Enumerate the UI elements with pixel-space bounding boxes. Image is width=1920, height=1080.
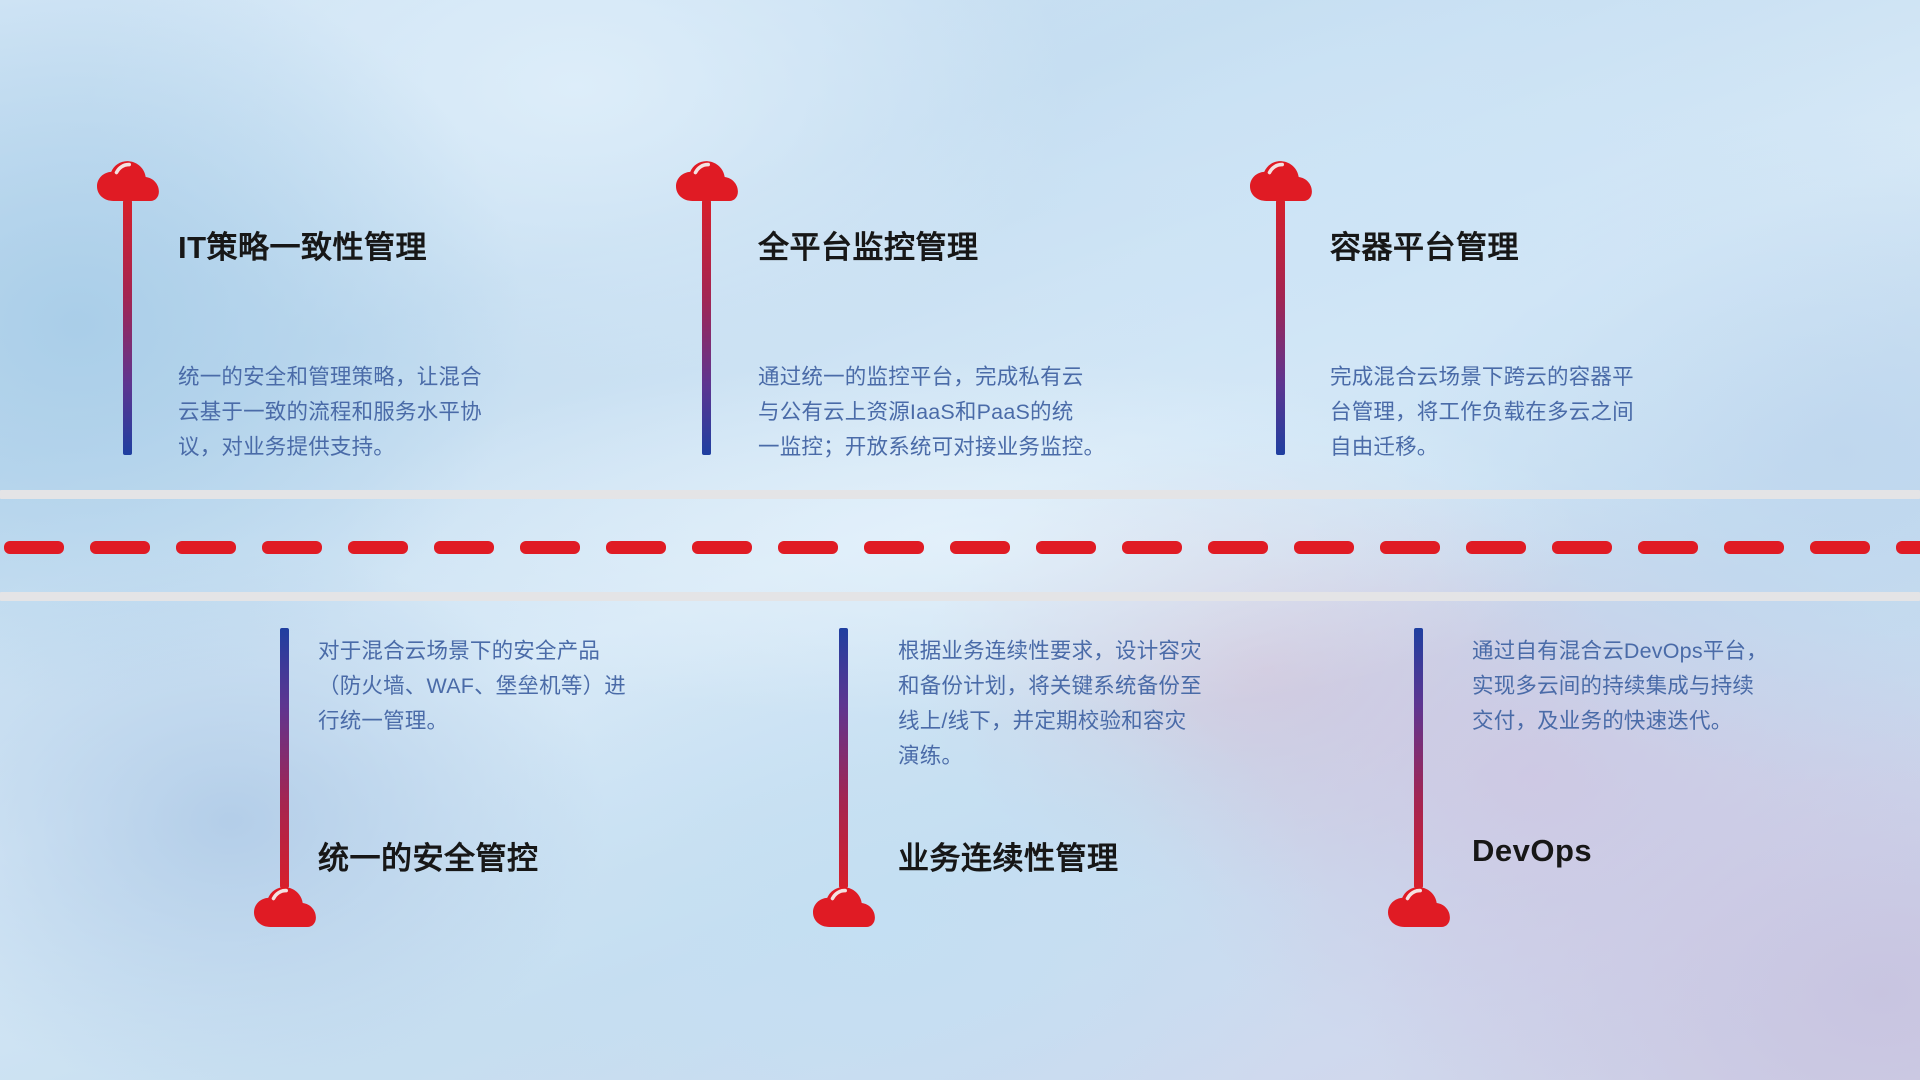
top-bar-3 (1276, 200, 1285, 455)
top-marker-2 (675, 160, 745, 202)
road-edge-bottom (0, 592, 1920, 601)
bottom-title-1: 统一的安全管控 (318, 833, 539, 878)
road-dash (1466, 541, 1526, 554)
road-dash (1208, 541, 1268, 554)
desc-line: 与公有云上资源IaaS和PaaS的统 (758, 395, 1208, 430)
cloud-icon (1387, 886, 1451, 928)
road-dash (1552, 541, 1612, 554)
top-bar-2 (702, 200, 711, 455)
road-dash (606, 541, 666, 554)
cloud-icon (253, 886, 317, 928)
top-title-3: 容器平台管理 (1330, 222, 1519, 267)
top-desc-3: 完成混合云场景下跨云的容器平 台管理，将工作负载在多云之间 自由迁移。 (1330, 360, 1770, 465)
bottom-bar-1 (280, 628, 289, 888)
road-dash (1294, 541, 1354, 554)
cloud-icon (1249, 160, 1313, 202)
top-title-1: IT策略一致性管理 (178, 222, 427, 267)
top-bar-1 (123, 200, 132, 455)
road-dash (176, 541, 236, 554)
road-dash (348, 541, 408, 554)
top-desc-1: 统一的安全和管理策略，让混合 云基于一致的流程和服务水平协 议，对业务提供支持。 (178, 360, 608, 465)
bottom-desc-2: 根据业务连续性要求，设计容灾 和备份计划，将关键系统备份至 线上/线下，并定期校… (898, 634, 1328, 774)
bottom-title-2: 业务连续性管理 (898, 833, 1119, 878)
road-dash (864, 541, 924, 554)
top-desc-2: 通过统一的监控平台，完成私有云 与公有云上资源IaaS和PaaS的统 一监控；开… (758, 360, 1208, 465)
road-dash (1724, 541, 1784, 554)
desc-line: 议，对业务提供支持。 (178, 430, 608, 465)
desc-line: 通过统一的监控平台，完成私有云 (758, 360, 1208, 395)
road-dash (692, 541, 752, 554)
cloud-icon (812, 886, 876, 928)
bottom-bar-3 (1414, 628, 1423, 888)
infographic-canvas: IT策略一致性管理 统一的安全和管理策略，让混合 云基于一致的流程和服务水平协 … (0, 0, 1920, 1080)
desc-line: （防火墙、WAF、堡垒机等）进 (318, 669, 748, 704)
desc-line: 和备份计划，将关键系统备份至 (898, 669, 1328, 704)
road-dash (4, 541, 64, 554)
desc-line: 交付，及业务的快速迭代。 (1472, 704, 1892, 739)
road-dash (434, 541, 494, 554)
desc-line: 演练。 (898, 739, 1328, 774)
bottom-desc-3: 通过自有混合云DevOps平台， 实现多云间的持续集成与持续 交付，及业务的快速… (1472, 634, 1892, 739)
cloud-icon (96, 160, 160, 202)
desc-line: 一监控；开放系统可对接业务监控。 (758, 430, 1208, 465)
road-dash (950, 541, 1010, 554)
bottom-bar-2 (839, 628, 848, 888)
road-dash (1036, 541, 1096, 554)
desc-line: 通过自有混合云DevOps平台， (1472, 634, 1892, 669)
bottom-title-3: DevOps (1472, 833, 1592, 869)
road-dash (1896, 541, 1920, 554)
road-dash (1380, 541, 1440, 554)
road-dash (262, 541, 322, 554)
top-title-2: 全平台监控管理 (758, 222, 979, 267)
desc-line: 完成混合云场景下跨云的容器平 (1330, 360, 1770, 395)
desc-line: 线上/线下，并定期校验和容灾 (898, 704, 1328, 739)
cloud-icon (675, 160, 739, 202)
desc-line: 云基于一致的流程和服务水平协 (178, 395, 608, 430)
top-marker-1 (96, 160, 166, 202)
road-edge-top (0, 490, 1920, 499)
road-dash (1810, 541, 1870, 554)
desc-line: 台管理，将工作负载在多云之间 (1330, 395, 1770, 430)
road-dash (778, 541, 838, 554)
road-dashed-centerline (0, 541, 1920, 554)
desc-line: 自由迁移。 (1330, 430, 1770, 465)
desc-line: 根据业务连续性要求，设计容灾 (898, 634, 1328, 669)
road-dash (1122, 541, 1182, 554)
bottom-desc-1: 对于混合云场景下的安全产品 （防火墙、WAF、堡垒机等）进 行统一管理。 (318, 634, 748, 739)
road-dash (1638, 541, 1698, 554)
desc-line: 对于混合云场景下的安全产品 (318, 634, 748, 669)
road-dash (520, 541, 580, 554)
desc-line: 实现多云间的持续集成与持续 (1472, 669, 1892, 704)
road-dash (90, 541, 150, 554)
desc-line: 行统一管理。 (318, 704, 748, 739)
desc-line: 统一的安全和管理策略，让混合 (178, 360, 608, 395)
top-marker-3 (1249, 160, 1319, 202)
